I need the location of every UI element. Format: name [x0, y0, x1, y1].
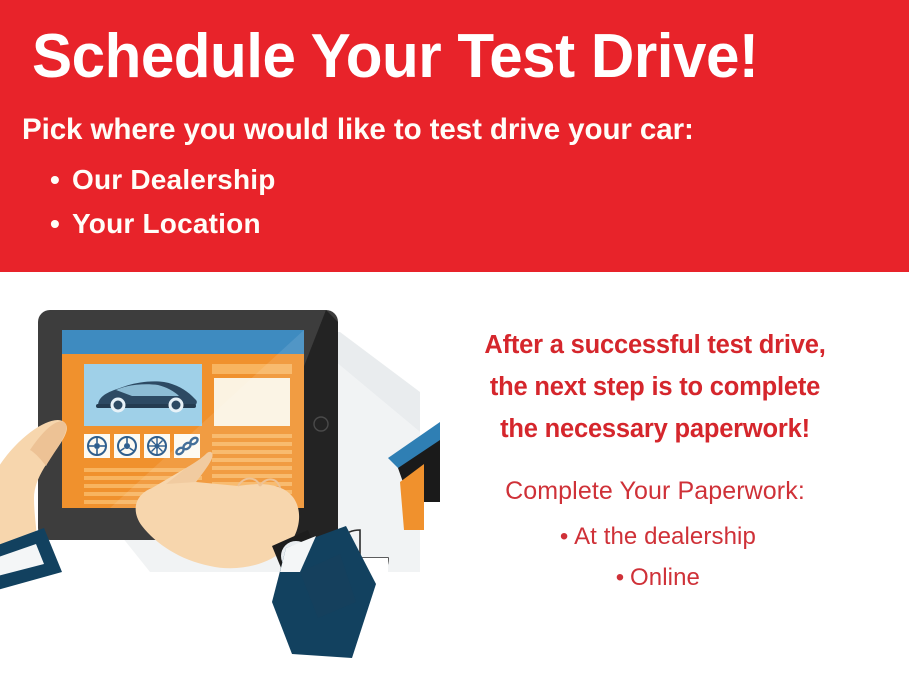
wheel-rim-icon-1	[84, 434, 110, 458]
headline-line-3: the necessary paperwork!	[420, 408, 890, 450]
banner-subtitle: Pick where you would like to test drive …	[22, 113, 879, 147]
headline-line-1: After a successful test drive,	[420, 324, 890, 366]
paperwork-option-label: Online	[630, 564, 700, 591]
paperwork-option-list: •At the dealership •Online	[420, 516, 890, 598]
banner-option-label: Your Location	[72, 208, 261, 239]
bullet-icon: •	[50, 202, 72, 246]
list-item: •Online	[420, 557, 890, 598]
list-item: •Our Dealership	[50, 158, 650, 202]
bullet-icon: •	[554, 516, 574, 557]
tablet-illustration	[0, 272, 440, 681]
bullet-icon: •	[50, 158, 72, 202]
lower-section: After a successful test drive, the next …	[0, 272, 909, 681]
banner-option-list: •Our Dealership •Your Location	[50, 158, 650, 246]
wheel-rim-icon-3	[144, 434, 170, 458]
paperwork-subheading: Complete Your Paperwork:	[420, 476, 890, 506]
red-banner: Schedule Your Test Drive! Pick where you…	[0, 0, 909, 272]
bullet-icon: •	[610, 557, 630, 598]
wheel-rim-icon-2	[114, 434, 140, 458]
list-item: •At the dealership	[420, 516, 890, 557]
infographic-page: Schedule Your Test Drive! Pick where you…	[0, 0, 909, 681]
headline-line-2: the next step is to complete	[420, 366, 890, 408]
paperwork-option-label: At the dealership	[574, 523, 756, 550]
list-item: •Your Location	[50, 202, 650, 246]
page-title: Schedule Your Test Drive!	[32, 26, 855, 88]
paperwork-text-block: After a successful test drive, the next …	[420, 324, 890, 598]
banner-option-label: Our Dealership	[72, 164, 276, 195]
